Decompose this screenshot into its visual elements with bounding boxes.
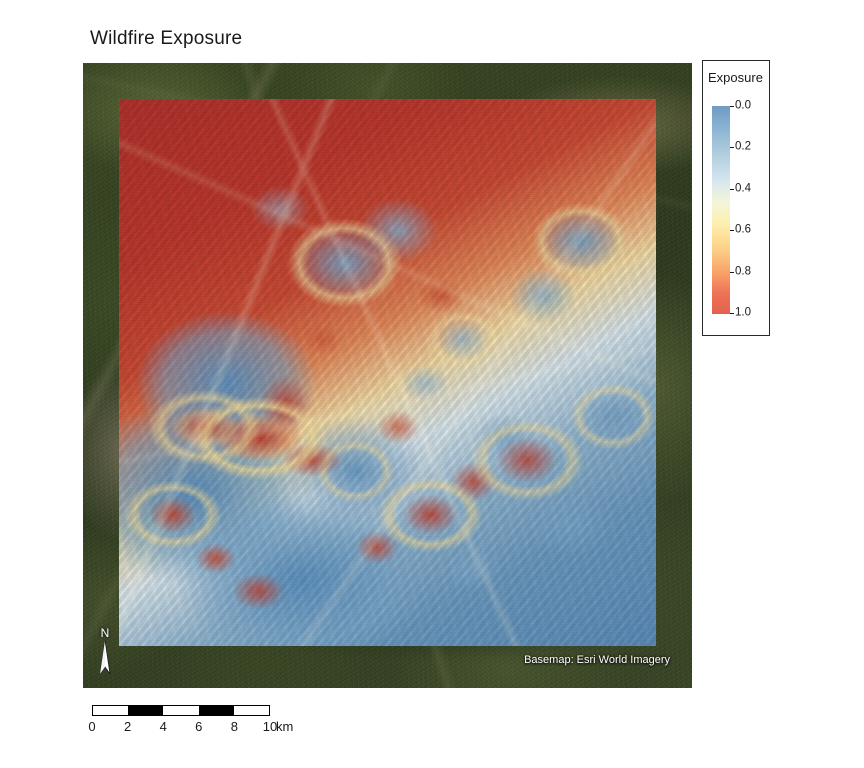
scale-bar-segment	[234, 706, 269, 715]
north-needle-icon	[93, 640, 117, 678]
scale-bar-label: 0	[88, 719, 95, 734]
page-title: Wildfire Exposure	[90, 28, 242, 50]
basemap-attribution: Basemap: Esri World Imagery	[524, 654, 670, 666]
legend-tick-label: 0.0	[735, 100, 751, 112]
legend-tick-label: 0.6	[735, 224, 751, 236]
scale-bar-segment	[128, 706, 163, 715]
legend-tick-label: 1.0	[735, 307, 751, 319]
map-panel[interactable]: Basemap: Esri World Imagery N	[83, 63, 692, 688]
legend-title: Exposure	[708, 70, 763, 85]
legend-tick-mark	[730, 189, 734, 190]
north-arrow-icon: N	[93, 626, 117, 678]
scale-bar	[92, 705, 270, 716]
legend-tick-mark	[730, 106, 734, 107]
legend-tick-mark	[730, 230, 734, 231]
raster-pixel-grain	[119, 99, 656, 646]
scale-bar-segment	[199, 706, 234, 715]
legend-tick-mark	[730, 147, 734, 148]
legend-tick-label: 0.2	[735, 142, 751, 154]
map-figure: Wildfire Exposure Basemap: Esri World Im…	[0, 0, 864, 768]
north-arrow-label: N	[93, 626, 117, 640]
legend-tick-label: 0.8	[735, 266, 751, 278]
legend-tick-mark	[730, 313, 734, 314]
scale-bar-segment	[93, 706, 128, 715]
exposure-colorbar	[712, 106, 730, 314]
scale-bar-unit: km	[276, 719, 293, 734]
scale-bar-label: 4	[160, 719, 167, 734]
scale-bar-label: 8	[231, 719, 238, 734]
exposure-raster-layer	[119, 99, 656, 646]
scale-bar-label: 2	[124, 719, 131, 734]
legend-tick-label: 0.4	[735, 183, 751, 195]
scale-bar-labels: 0246810	[92, 719, 292, 737]
legend-tick-mark	[730, 272, 734, 273]
scale-bar-segment	[163, 706, 198, 715]
legend: Exposure 0.00.20.40.60.81.0	[702, 60, 770, 336]
scale-bar-label: 6	[195, 719, 202, 734]
